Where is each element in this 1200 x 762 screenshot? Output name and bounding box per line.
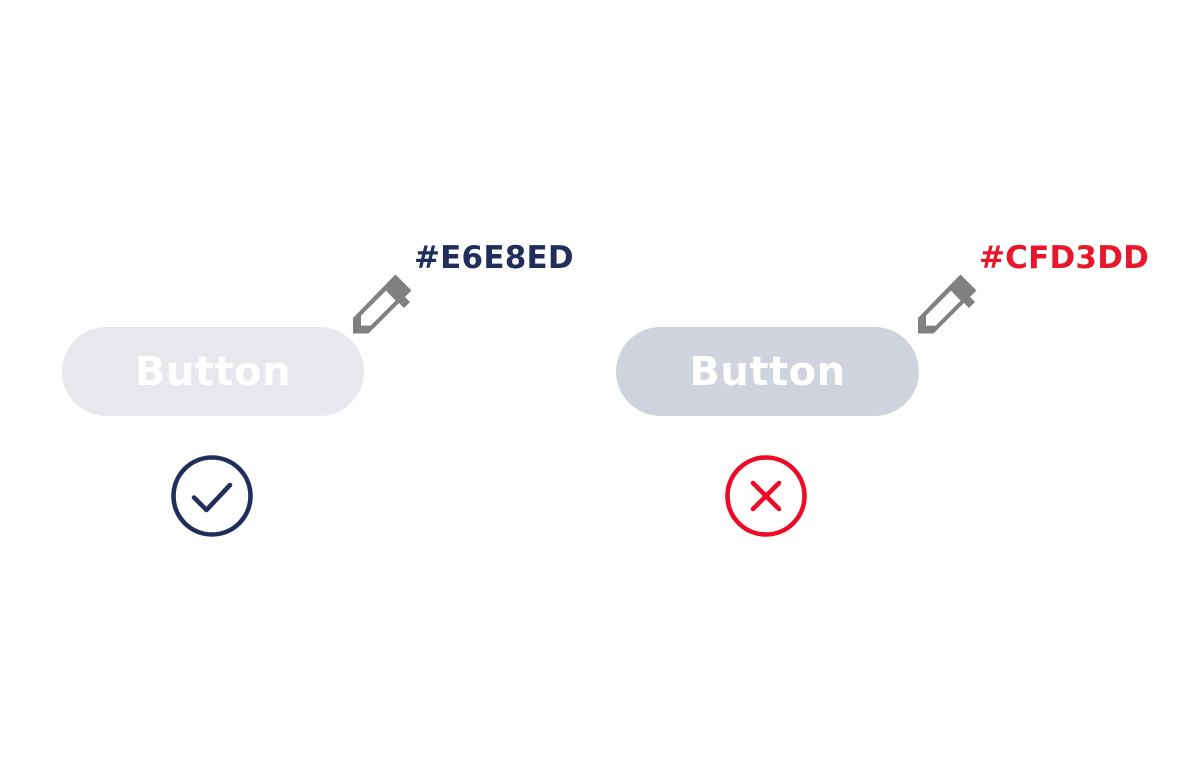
swatch-panel-pass: #E6E8ED Button: [0, 0, 600, 762]
eyedropper-icon-fail: [913, 268, 983, 338]
swatch-panel-fail: #CFD3DD Button: [555, 0, 1200, 762]
sample-button-pass[interactable]: Button: [62, 327, 364, 416]
check-circle-icon: [171, 455, 253, 537]
eyedropper-icon-pass: [348, 268, 418, 338]
comparison-stage: #E6E8ED Button #: [0, 0, 1200, 762]
sample-button-fail[interactable]: Button: [616, 327, 919, 416]
hex-color-label-pass: #E6E8ED: [414, 238, 574, 278]
hex-color-label-fail: #CFD3DD: [979, 238, 1149, 278]
sample-button-label: Button: [135, 352, 291, 392]
sample-button-label: Button: [689, 352, 845, 392]
x-circle-icon: [725, 455, 807, 537]
